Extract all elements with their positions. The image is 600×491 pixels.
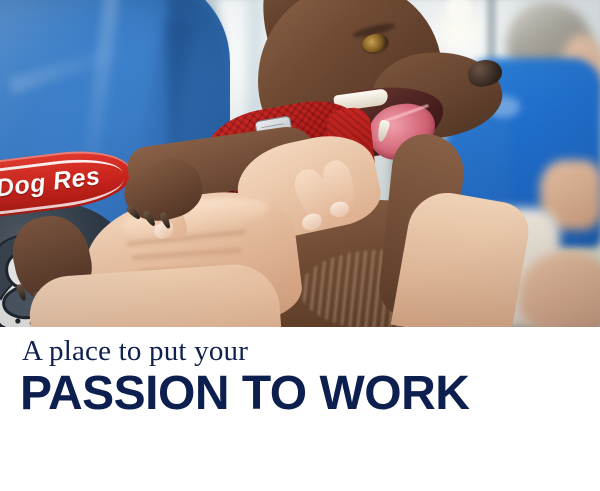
headline-text: PASSION TO WORK	[20, 368, 469, 420]
eyebrow-text: A place to put your	[22, 335, 248, 367]
recruitment-banner: e Dog Res	[0, 0, 600, 491]
background-volunteer-knee	[520, 252, 600, 327]
hero-photo: e Dog Res	[0, 0, 600, 327]
headline-block: A place to put your PASSION TO WORK	[0, 327, 600, 491]
